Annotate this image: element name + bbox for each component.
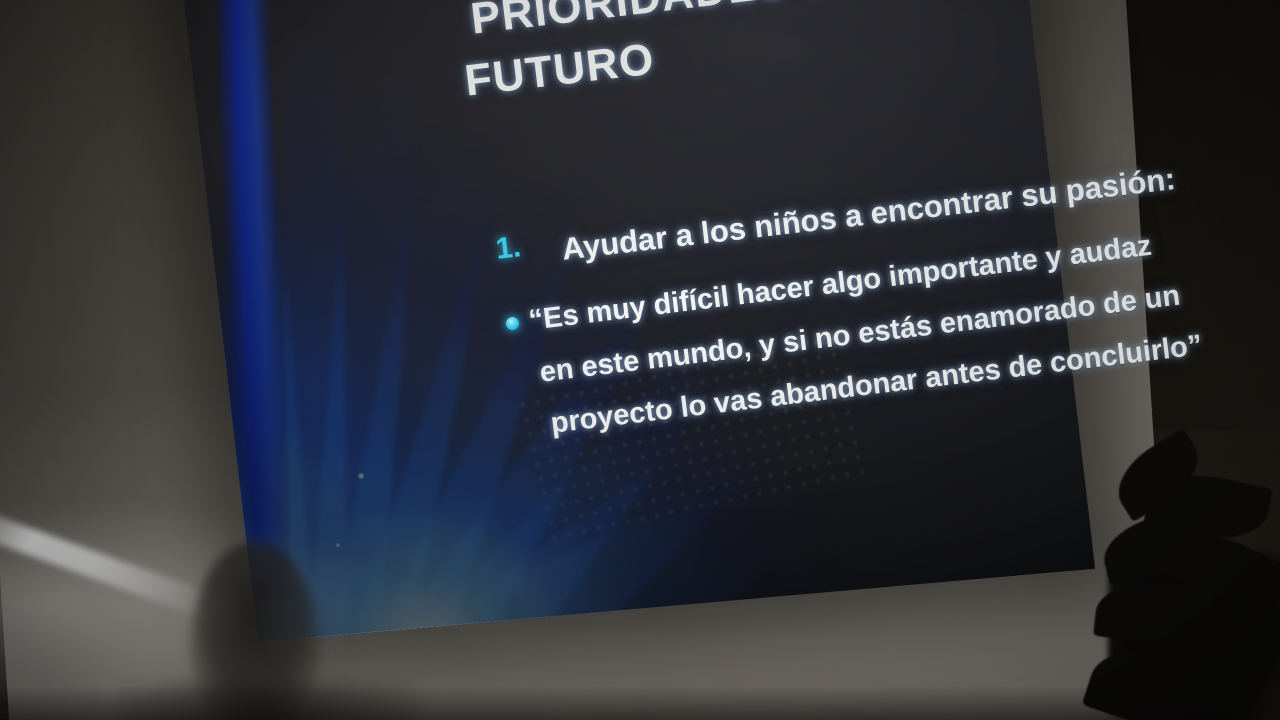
quote-bullet-icon — [506, 317, 519, 330]
projected-slide-photo: PRIORIDADES DE LOS DOCENTES DEL FUTURO 1… — [0, 0, 1280, 720]
potted-plant-silhouette — [1090, 432, 1280, 720]
floor-shadow-band — [0, 686, 1280, 720]
list-item-number: 1. — [494, 230, 523, 267]
